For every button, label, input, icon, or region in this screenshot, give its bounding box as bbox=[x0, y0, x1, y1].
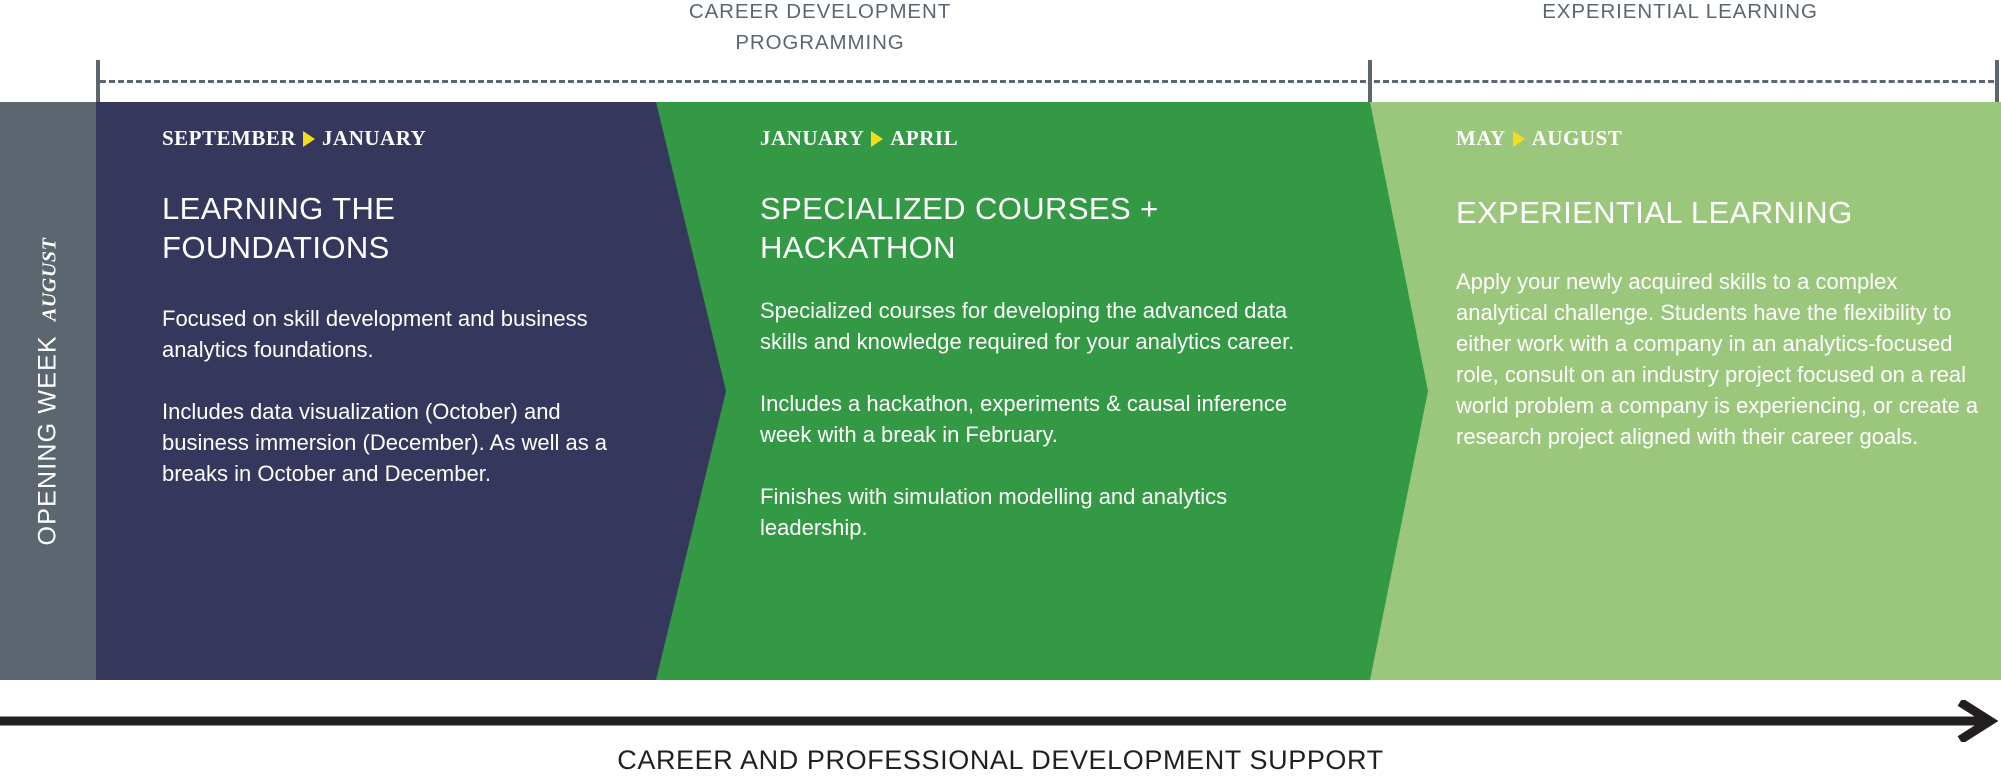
phase-label-career-development-programming: CAREER DEVELOPMENT PROGRAMMING bbox=[560, 0, 1080, 58]
panel-2-paragraph: Finishes with simulation modelling and a… bbox=[760, 481, 1320, 543]
arrow-right-icon bbox=[0, 700, 2001, 742]
panel-3-range-end: AUGUST bbox=[1532, 126, 1623, 151]
opening-week-label: OPENING WEEK bbox=[34, 335, 63, 545]
panel-2-paragraph: Includes a hackathon, experiments & caus… bbox=[760, 388, 1320, 450]
panel-1-range-start: SEPTEMBER bbox=[162, 126, 296, 151]
triangle-right-icon bbox=[871, 131, 883, 147]
timeline-diagram: CAREER DEVELOPMENT PROGRAMMING EXPERIENT… bbox=[0, 0, 2001, 782]
panel-2-date-range: JANUARY APRIL bbox=[760, 126, 1320, 151]
panel-3-paragraph: Apply your newly acquired skills to a co… bbox=[1456, 266, 1986, 452]
panel-2-title: SPECIALIZED COURSES + HACKATHON bbox=[760, 189, 1320, 267]
panel-2-range-start: JANUARY bbox=[760, 126, 864, 151]
panel-2-body: Specialized courses for developing the a… bbox=[760, 295, 1320, 543]
panel-2-paragraph: Specialized courses for developing the a… bbox=[760, 295, 1320, 357]
bracket-dash-career-development bbox=[100, 80, 1366, 83]
panel-3-range-start: MAY bbox=[1456, 126, 1506, 151]
panel-3-title: EXPERIENTIAL LEARNING bbox=[1456, 193, 1986, 232]
panel-1-paragraph: Includes data visualization (October) an… bbox=[162, 396, 632, 489]
panel-1-body: Focused on skill development and busines… bbox=[162, 303, 632, 489]
panel-2-range-end: APRIL bbox=[890, 126, 958, 151]
bracket-tick-right bbox=[1995, 60, 1999, 102]
triangle-right-icon bbox=[303, 131, 315, 147]
opening-week-column: OPENING WEEK AUGUST bbox=[0, 102, 96, 680]
panel-3-body: Apply your newly acquired skills to a co… bbox=[1456, 266, 1986, 452]
bracket-tick-middle bbox=[1368, 60, 1372, 102]
panel-1-paragraph: Focused on skill development and busines… bbox=[162, 303, 632, 365]
bracket-dash-experiential-learning bbox=[1374, 80, 1994, 83]
panel-1-range-end: JANUARY bbox=[322, 126, 426, 151]
panel-1-title: LEARNING THE FOUNDATIONS bbox=[162, 189, 632, 267]
panel-1-date-range: SEPTEMBER JANUARY bbox=[162, 126, 632, 151]
triangle-right-icon bbox=[1513, 131, 1525, 147]
panel-learning-the-foundations: SEPTEMBER JANUARY LEARNING THE FOUNDATIO… bbox=[96, 102, 656, 680]
panel-experiential-learning: MAY AUGUST EXPERIENTIAL LEARNING Apply y… bbox=[1296, 102, 2001, 680]
phase-label-experiential-learning: EXPERIENTIAL LEARNING bbox=[1345, 0, 2001, 27]
bottom-caption: CAREER AND PROFESSIONAL DEVELOPMENT SUPP… bbox=[0, 745, 2001, 776]
panel-3-date-range: MAY AUGUST bbox=[1456, 126, 1986, 151]
opening-week-month-label: AUGUST bbox=[39, 237, 62, 321]
panel-specialized-courses-hackathon: JANUARY APRIL SPECIALIZED COURSES + HACK… bbox=[656, 102, 1296, 680]
